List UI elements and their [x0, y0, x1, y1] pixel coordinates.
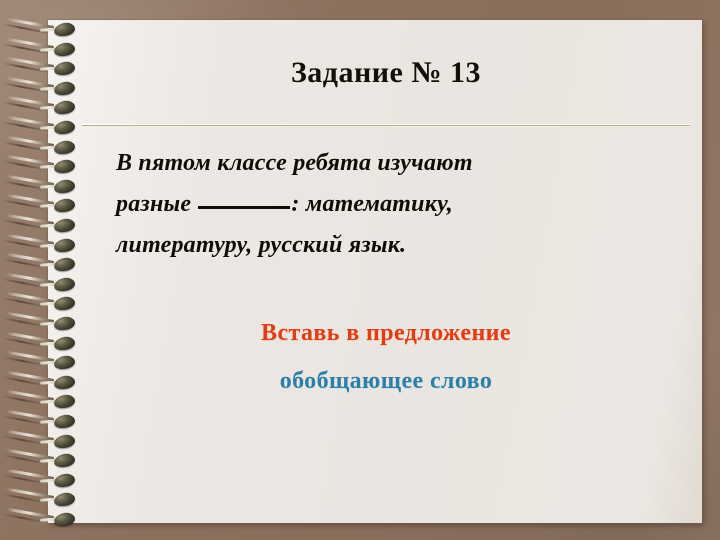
- spiral-wire-outer-lower: [3, 258, 49, 269]
- spiral-wire-outer-lower: [3, 23, 49, 34]
- fill-in-blank[interactable]: [198, 188, 290, 209]
- title-divider-rule: [82, 124, 690, 127]
- spiral-wire-outer-lower: [3, 396, 49, 407]
- notebook-page: [48, 20, 702, 523]
- spiral-wire-outer-lower: [3, 180, 49, 191]
- spiral-wire-outer-lower: [3, 317, 49, 328]
- sentence-line-3: литературу, русский язык.: [116, 225, 636, 266]
- instruction-block: Вставь в предложение обобщающее слово: [86, 320, 686, 395]
- sentence-line-2-before: разные: [116, 191, 197, 217]
- instruction-line-red: Вставь в предложение: [86, 320, 686, 347]
- spiral-wire-outer-lower: [3, 494, 49, 505]
- spiral-wire-outer-lower: [3, 513, 49, 524]
- spiral-wire-outer-lower: [3, 474, 49, 485]
- spiral-wire-outer-lower: [3, 43, 49, 54]
- spiral-wire-outer-lower: [3, 141, 49, 152]
- spiral-wire-outer-lower: [3, 435, 49, 446]
- spiral-wire-outer-lower: [3, 415, 49, 426]
- spiral-wire-outer-lower: [3, 82, 49, 93]
- exercise-sentence: В пятом классе ребята изучают разные : м…: [116, 143, 636, 266]
- spiral-wire-outer-lower: [3, 376, 49, 387]
- spiral-wire-outer-lower: [3, 219, 49, 230]
- sentence-line-2-after: : математику,: [291, 191, 453, 217]
- spiral-wire-outer-lower: [3, 337, 49, 348]
- spiral-wire-outer-lower: [3, 160, 49, 171]
- spiral-wire-outer-lower: [3, 102, 49, 113]
- spiral-wire-outer-lower: [3, 239, 49, 250]
- spiral-wire-outer-lower: [3, 200, 49, 211]
- spiral-wire-outer-lower: [3, 121, 49, 132]
- spiral-wire-outer-lower: [3, 356, 49, 367]
- spiral-wire-outer-lower: [3, 278, 49, 289]
- instruction-line-blue: обобщающее слово: [86, 368, 686, 395]
- page-title: Задание № 13: [86, 56, 686, 90]
- spiral-wire-outer-lower: [3, 298, 49, 309]
- sentence-line-1: В пятом классе ребята изучают: [116, 143, 636, 184]
- notebook-slide: Задание № 13 В пятом классе ребята изуча…: [0, 0, 720, 540]
- spiral-wire-outer-lower: [3, 62, 49, 73]
- sentence-line-2: разные : математику,: [116, 184, 636, 225]
- spiral-wire-outer-lower: [3, 454, 49, 465]
